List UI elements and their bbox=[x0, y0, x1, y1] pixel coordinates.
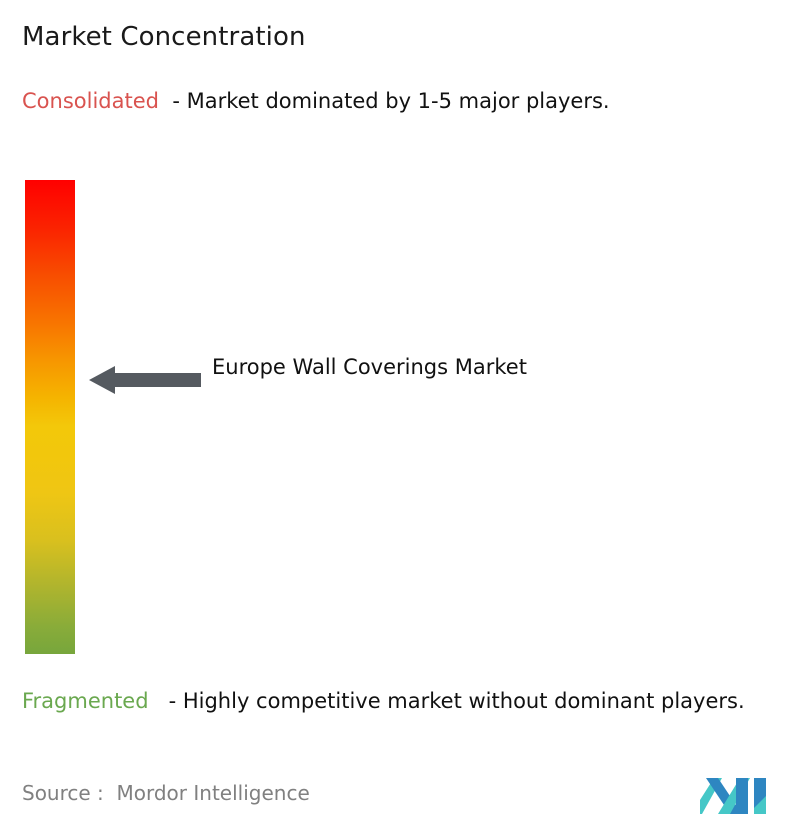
mordor-intelligence-logo bbox=[700, 770, 772, 818]
source-label: Source : Mordor Intelligence bbox=[22, 779, 310, 807]
legend-consolidated-separator bbox=[159, 89, 172, 113]
page-title: Market Concentration bbox=[22, 20, 306, 54]
legend-consolidated-description: - Market dominated by 1-5 major players. bbox=[172, 89, 609, 113]
left-arrow-icon bbox=[89, 365, 201, 395]
legend-fragmented-separator bbox=[149, 689, 169, 713]
legend-fragmented-keyword: Fragmented bbox=[22, 689, 149, 713]
mi-monogram-icon bbox=[700, 770, 772, 818]
legend-fragmented-description: - Highly competitive market without domi… bbox=[169, 689, 745, 713]
legend-consolidated-keyword: Consolidated bbox=[22, 89, 159, 113]
legend-consolidated: Consolidated - Market dominated by 1-5 m… bbox=[22, 86, 762, 117]
annotation-arrow bbox=[89, 365, 201, 395]
chart-canvas: Market Concentration Consolidated - Mark… bbox=[0, 0, 796, 834]
concentration-gradient-bar bbox=[25, 180, 75, 654]
legend-fragmented: Fragmented - Highly competitive market w… bbox=[22, 686, 782, 717]
annotation-label: Europe Wall Coverings Market bbox=[212, 350, 592, 385]
